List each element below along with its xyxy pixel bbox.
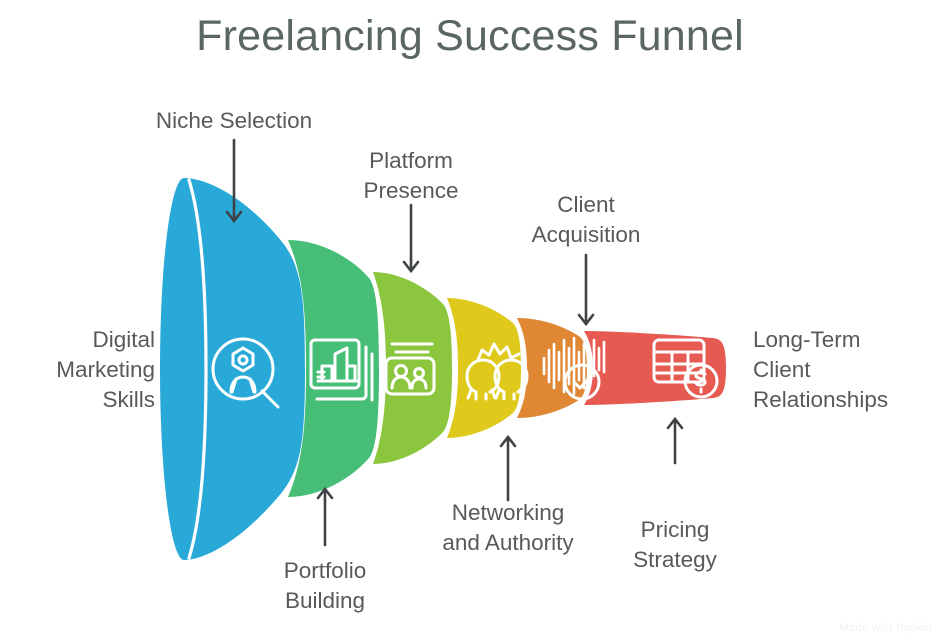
callout-portfolio-building: Portfolio Building <box>245 556 405 616</box>
arrow-networking-authority <box>501 437 515 500</box>
callout-platform-presence: Platform Presence <box>331 146 491 206</box>
funnel-diagram: Freelancing Success Funnel <box>0 0 940 640</box>
funnel-segment-5[interactable] <box>517 318 587 418</box>
callout-digital-marketing-skills: Digital Marketing Skills <box>30 325 155 415</box>
arrow-pricing-strategy <box>668 419 682 463</box>
callout-long-term-client-relationships: Long-Term Client Relationships <box>753 325 938 415</box>
funnel-segment-4[interactable] <box>447 298 521 438</box>
callout-networking-and-authority: Networking and Authority <box>408 498 608 558</box>
arrow-platform-presence <box>404 205 418 271</box>
callout-niche-selection: Niche Selection <box>124 106 344 136</box>
arrow-portfolio-building <box>318 489 332 545</box>
arrow-client-acquisition <box>579 255 593 324</box>
callout-pricing-strategy: Pricing Strategy <box>605 515 745 575</box>
watermark: Made with Napkin <box>840 622 932 634</box>
callout-client-acquisition: Client Acquisition <box>486 190 686 250</box>
